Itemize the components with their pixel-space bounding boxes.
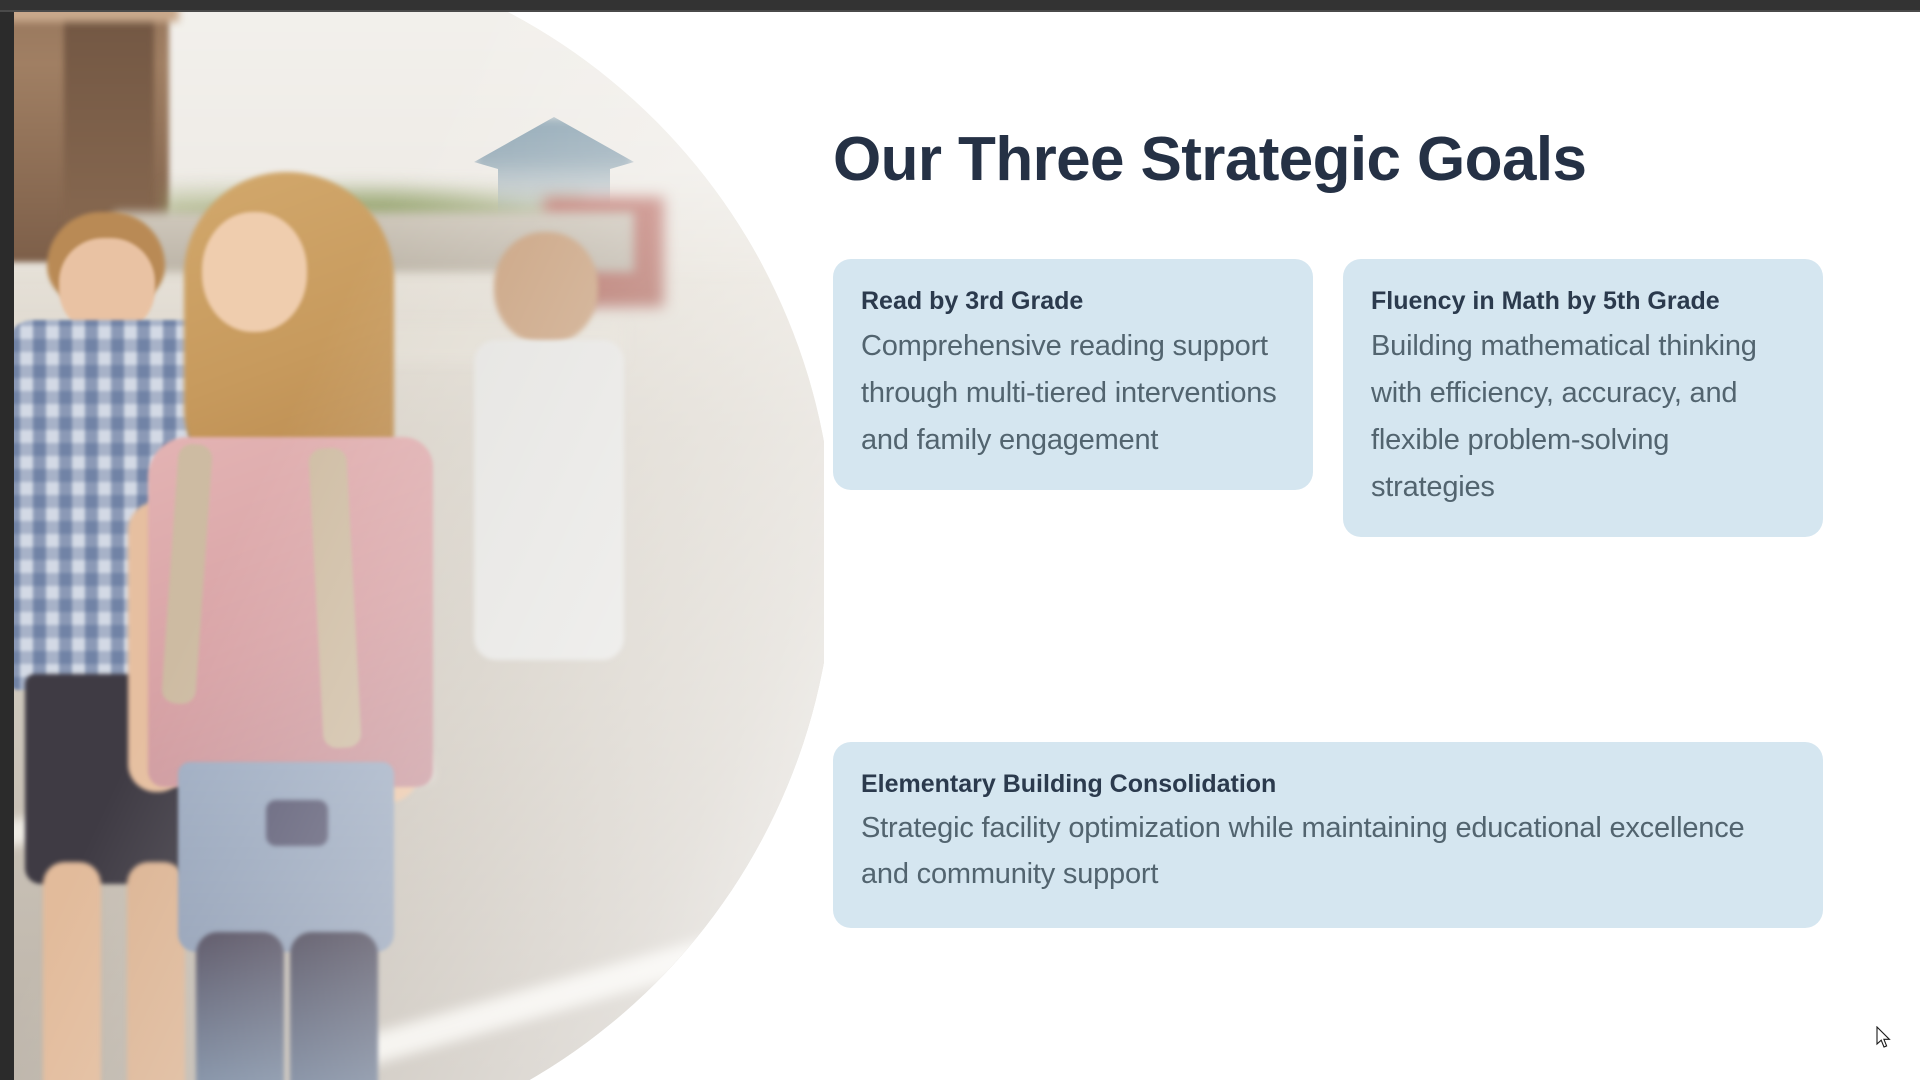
window-chrome-bar [0,0,1920,10]
goal-card-elementary-building-consolidation[interactable]: Elementary Building Consolidation Strate… [833,742,1823,928]
photo-awning [14,12,179,22]
photo-student-three [474,232,634,852]
goal-card-title: Read by 3rd Grade [861,285,1285,317]
student-three-shirt [474,340,624,660]
goal-card-body: Comprehensive reading support through mu… [861,323,1285,464]
slide-photo-panel [14,12,824,1080]
goal-card-body: Strategic facility optimization while ma… [861,806,1795,898]
presentation-slide: Our Three Strategic Goals Read by 3rd Gr… [14,12,1920,1080]
student-two-left-leg [196,932,284,1080]
goal-card-title: Elementary Building Consolidation [861,768,1795,800]
goal-card-title: Fluency in Math by 5th Grade [1371,285,1795,317]
students-photo [14,12,824,1080]
student-three-head [494,232,598,344]
goal-card-read-by-3rd-grade[interactable]: Read by 3rd Grade Comprehensive reading … [833,259,1313,490]
goal-card-body: Building mathematical thinking with effi… [1371,323,1795,511]
student-two-face [202,212,307,332]
photo-student-two [144,172,474,1080]
page-title: Our Three Strategic Goals [833,124,1586,195]
student-two-right-leg [290,932,378,1080]
goal-card-fluency-in-math-by-5th-grade[interactable]: Fluency in Math by 5th Grade Building ma… [1343,259,1823,537]
photo-curved-mask [14,12,824,1080]
screen: Our Three Strategic Goals Read by 3rd Gr… [0,0,1920,1080]
goal-cards-row: Read by 3rd Grade Comprehensive reading … [833,259,1823,537]
student-one-left-leg [43,862,101,1080]
student-two-shorts-patch [266,800,328,846]
slide-content: Our Three Strategic Goals Read by 3rd Gr… [824,12,1920,1080]
student-two-denim-shorts [178,762,394,952]
